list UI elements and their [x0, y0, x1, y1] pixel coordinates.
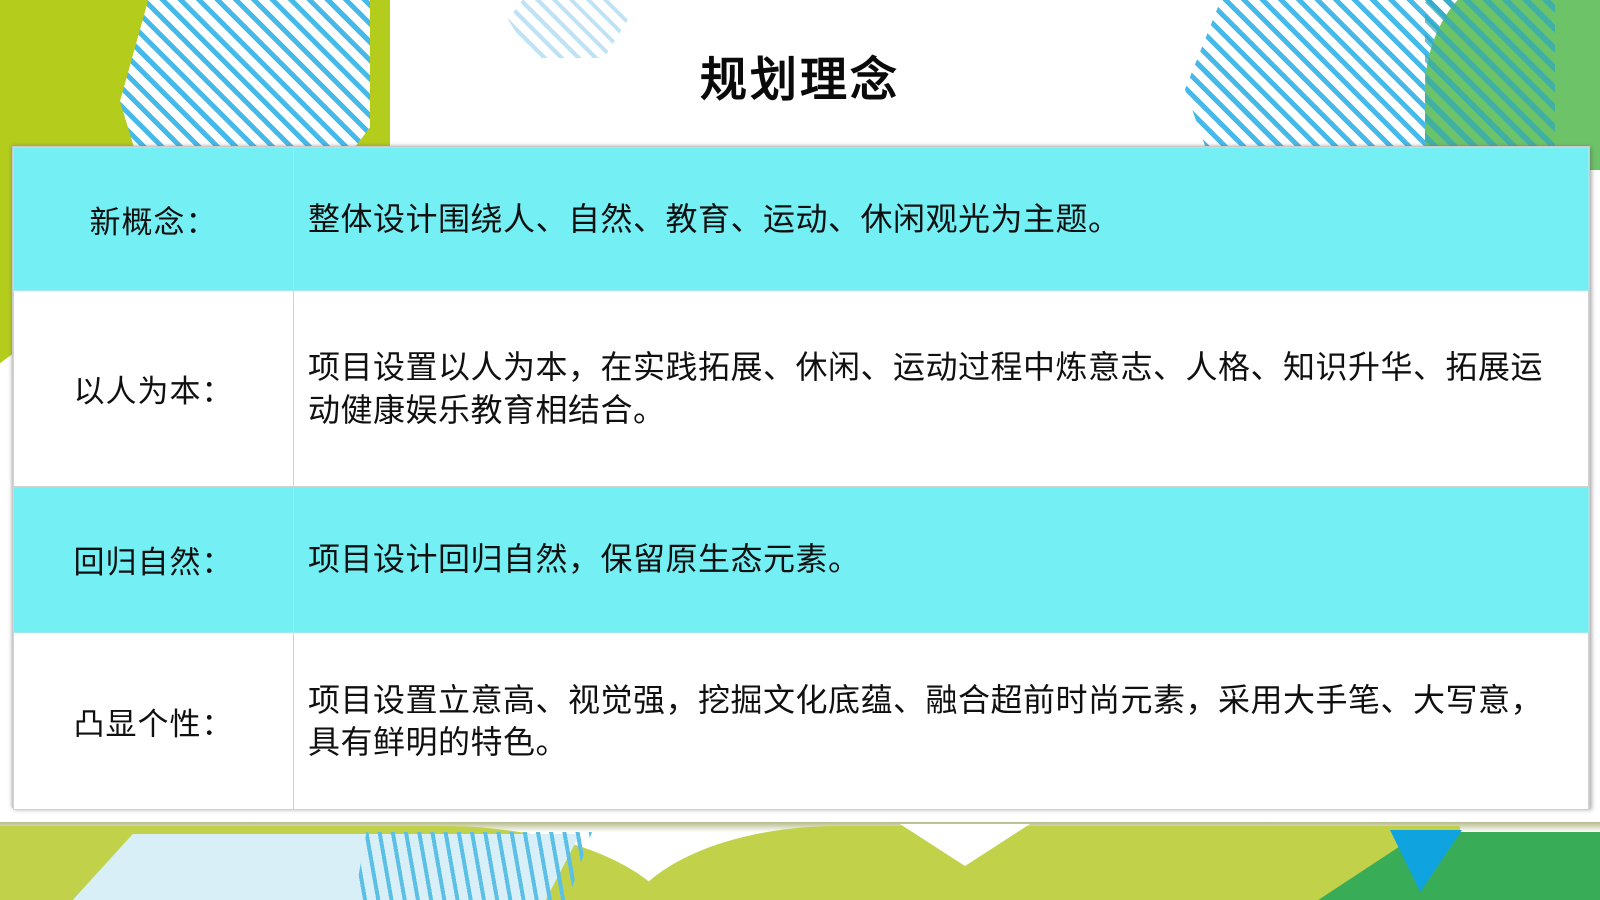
row-text: 项目设计回归自然，保留原生态元素。	[294, 487, 1589, 633]
row-text: 整体设计围绕人、自然、教育、运动、休闲观光为主题。	[294, 148, 1589, 291]
slide-canvas: 规划理念 新概念： 整体设计围绕人、自然、教育、运动、休闲观光为主题。 以人为本…	[0, 0, 1600, 900]
row-label: 凸显个性：	[14, 633, 294, 810]
table-row: 新概念： 整体设计围绕人、自然、教育、运动、休闲观光为主题。	[14, 148, 1589, 291]
table-row: 凸显个性： 项目设置立意高、视觉强，挖掘文化底蕴、融合超前时尚元素，采用大手笔、…	[14, 633, 1589, 810]
bottom-light-blue-shape	[60, 834, 580, 900]
table-row: 回归自然： 项目设计回归自然，保留原生态元素。	[14, 487, 1589, 633]
concept-table-container: 新概念： 整体设计围绕人、自然、教育、运动、休闲观光为主题。 以人为本： 项目设…	[12, 146, 1590, 808]
row-label: 以人为本：	[14, 291, 294, 487]
bottom-right-green-shape	[1300, 832, 1600, 900]
row-label: 回归自然：	[14, 487, 294, 633]
row-text: 项目设置以人为本，在实践拓展、休闲、运动过程中炼意志、人格、知识升华、拓展运动健…	[294, 291, 1589, 487]
row-text: 项目设置立意高、视觉强，挖掘文化底蕴、融合超前时尚元素，采用大手笔、大写意，具有…	[294, 633, 1589, 810]
bottom-notch-shape	[900, 824, 1030, 866]
bottom-shadow-band	[0, 822, 1600, 832]
page-title: 规划理念	[0, 56, 1600, 108]
table-row: 以人为本： 项目设置以人为本，在实践拓展、休闲、运动过程中炼意志、人格、知识升华…	[14, 291, 1589, 487]
bottom-left-olive-shape	[0, 826, 680, 900]
top-center-stripe-blob	[508, 0, 628, 58]
bottom-blue-triangle	[1390, 830, 1462, 892]
concept-table: 新概念： 整体设计围绕人、自然、教育、运动、休闲观光为主题。 以人为本： 项目设…	[13, 147, 1589, 810]
row-label: 新概念：	[14, 148, 294, 291]
bottom-right-olive-shape	[620, 826, 1460, 900]
bottom-stripe-blob	[352, 832, 592, 900]
